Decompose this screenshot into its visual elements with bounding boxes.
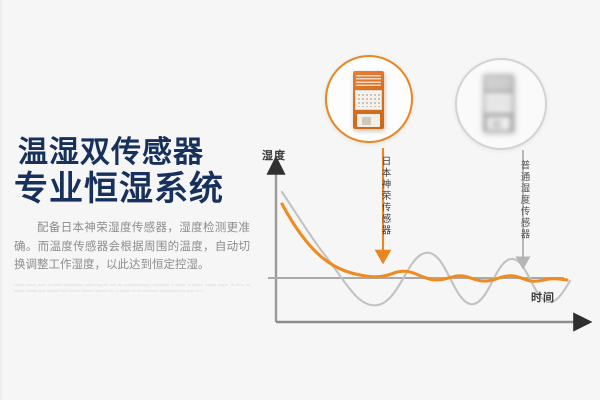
annotation-label-ordinary: 普通湿度传感器 — [518, 160, 528, 241]
sensor-module-vent-dots — [357, 93, 380, 107]
sensor-module-pin-slot — [362, 117, 371, 125]
x-axis-label: 时间 — [531, 289, 555, 305]
callout-shinei-sensor — [325, 55, 413, 143]
sensor-module-print — [356, 75, 381, 86]
body-paragraph: 配备日本神荣湿度传感器，湿度检测更准确。而温度传感器会根据周围的温度，自动切换调… — [14, 219, 250, 275]
shinei-sensor-photo — [327, 57, 411, 141]
headline-line-1: 温湿双传感器 — [18, 138, 264, 168]
headline-line-2: 专业恒湿系统 — [14, 172, 264, 206]
annotation-label-shinei: 日本神荣传感器 — [379, 156, 389, 237]
callout-ordinary-sensor — [455, 58, 547, 150]
ordinary-sensor-photo — [457, 60, 545, 148]
sensor-module-print — [486, 78, 511, 89]
fine-print-text: Lorem ipsum dolor sit amet consectetur a… — [14, 282, 250, 295]
copy-block: 温湿双传感器 专业恒湿系统 配备日本神荣湿度传感器，湿度检测更准确。而温度传感器… — [14, 138, 264, 294]
banner-canvas: 温湿双传感器 专业恒湿系统 配备日本神荣湿度传感器，湿度检测更准确。而温度传感器… — [0, 0, 600, 400]
y-axis-label: 湿度 — [262, 147, 286, 163]
sensor-module-pin-slot — [492, 120, 501, 128]
sensor-module-vent-dots — [487, 96, 510, 110]
